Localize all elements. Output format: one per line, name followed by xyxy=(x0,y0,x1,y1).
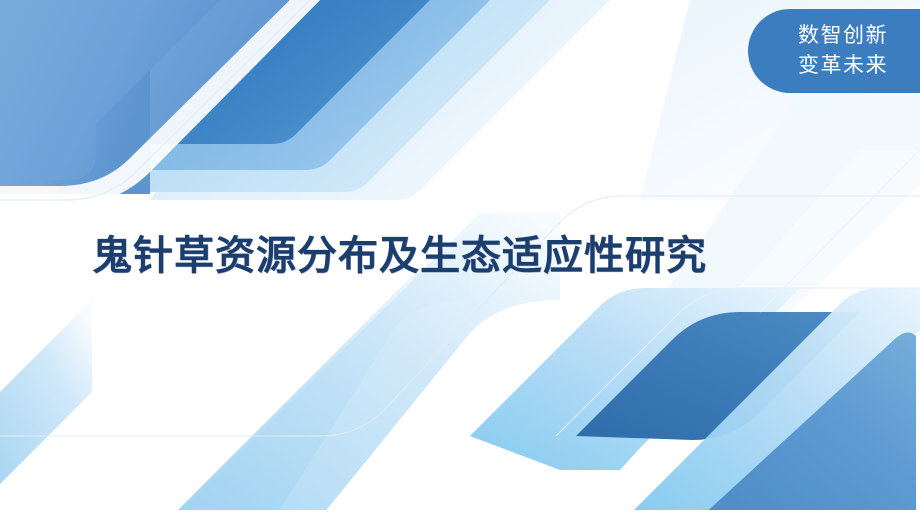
bottom-right-hairline-2 xyxy=(760,150,920,312)
top-left-white-sweep xyxy=(0,0,330,206)
slogan-line-2: 变革未来 xyxy=(798,51,888,81)
bottom-white-strip xyxy=(0,510,920,518)
top-left-block-body xyxy=(0,0,150,194)
top-left-hairline xyxy=(0,0,320,200)
bottom-right-light-stripe xyxy=(470,288,800,470)
top-left-block xyxy=(0,0,300,194)
bottom-left-stripe-outer xyxy=(0,300,92,484)
bottom-right-hairline xyxy=(556,288,920,436)
page-title: 鬼针草资源分布及生态适应性研究 xyxy=(92,232,832,280)
bottom-left-stripe-inner xyxy=(160,268,470,518)
bottom-right-light-stripe-2 xyxy=(626,288,920,518)
slogan-line-1: 数智创新 xyxy=(798,21,888,51)
bottom-right-triangle xyxy=(700,332,916,518)
slide-canvas: 数智创新 变革未来 鬼针草资源分布及生态适应性研究 xyxy=(0,0,920,518)
top-right-faint-stripe-b xyxy=(640,95,920,330)
top-diagonal-stripe-mid xyxy=(96,0,500,170)
slogan-badge: 数智创新 变革未来 xyxy=(748,9,920,93)
top-diagonal-stripe-light xyxy=(120,0,560,192)
top-left-block-corner xyxy=(0,0,230,180)
bottom-right-dark-parallelogram xyxy=(576,312,860,440)
top-diagonal-stripe-dark xyxy=(70,0,440,144)
top-diagonal-stripe-pale xyxy=(150,0,620,200)
